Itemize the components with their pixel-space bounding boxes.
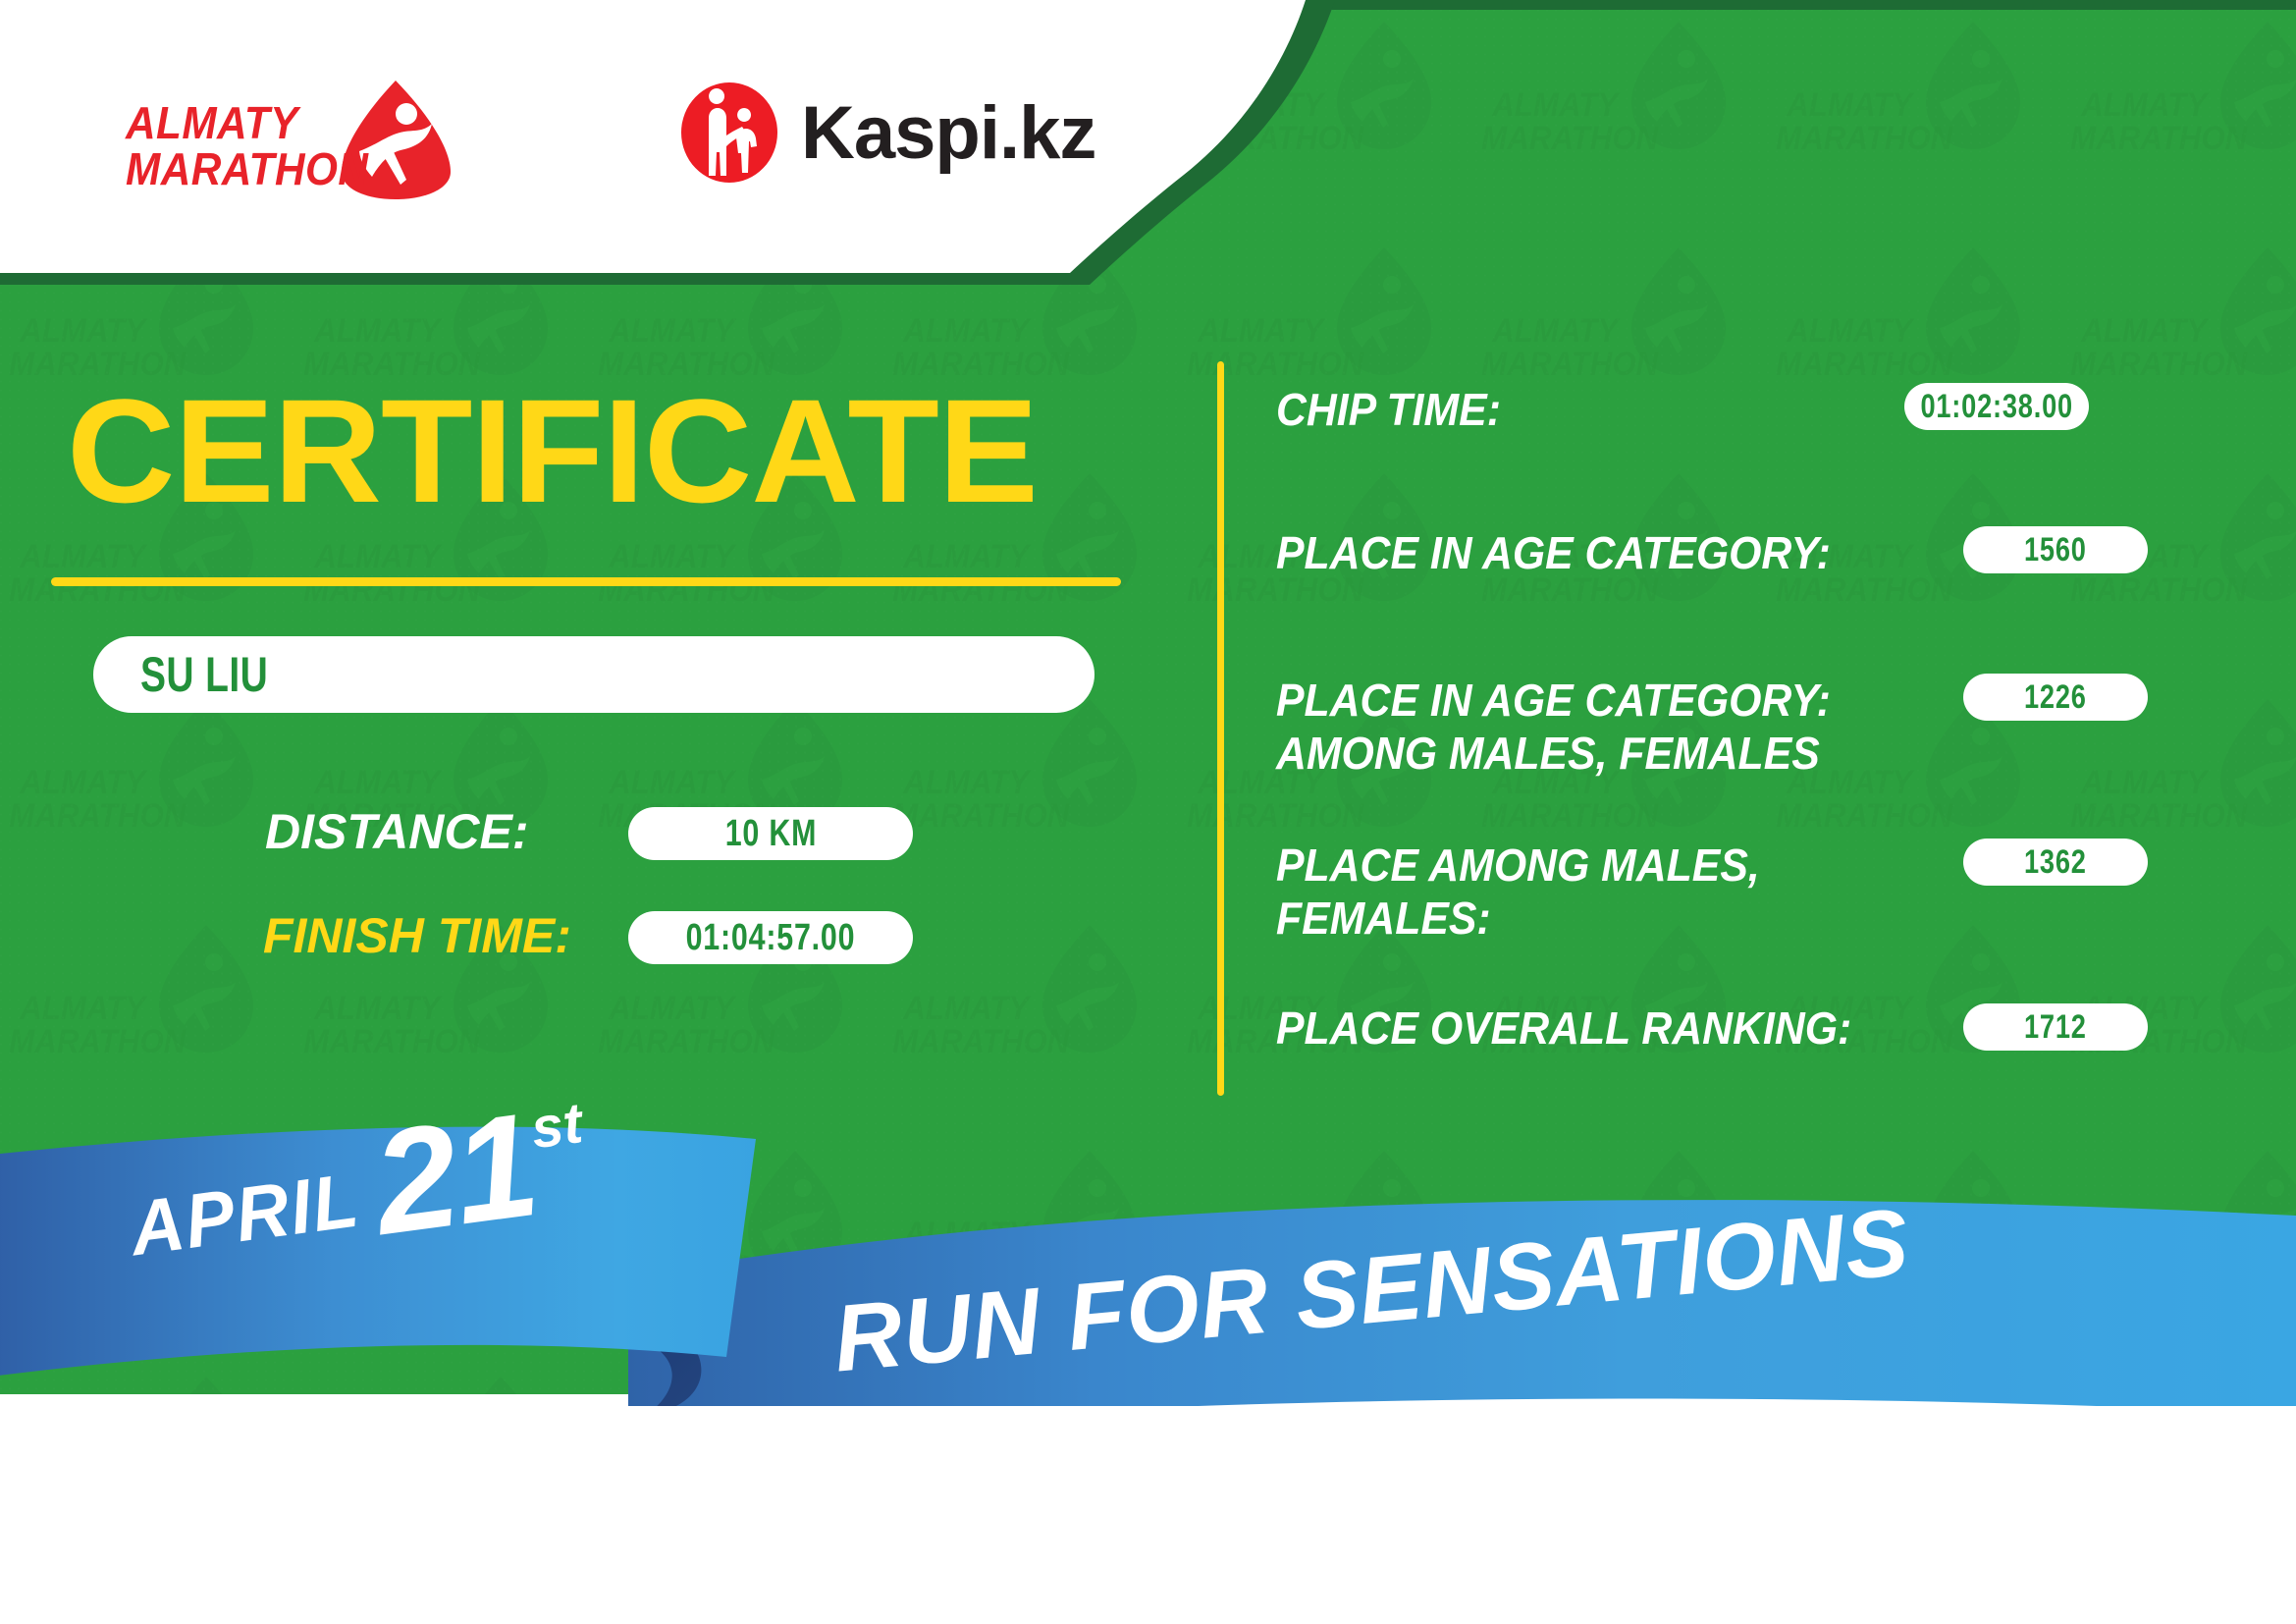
- result-row-age-category-gender: PLACE IN AGE CATEGORY: AMONG MALES, FEMA…: [1276, 674, 2238, 839]
- overall-rank-value: 1712: [2024, 1008, 2087, 1047]
- almaty-line: ALMATY: [126, 100, 368, 146]
- header-logo-group: ALMATY MARATHON Kaspi.kz: [0, 0, 1178, 281]
- left-stats-group: DISTANCE: 10 KM FINISH TIME: 01:04:57.00: [0, 785, 1158, 974]
- overall-rank-value-pill: 1712: [1963, 1003, 2148, 1051]
- age-category-value-pill: 1560: [1963, 526, 2148, 573]
- place-gender-label: PLACE AMONG MALES, FEMALES:: [1276, 839, 1760, 945]
- marathon-line: MARATHON: [126, 146, 368, 192]
- result-row-age-category: PLACE IN AGE CATEGORY: 1560: [1276, 520, 2238, 674]
- almaty-marathon-wordmark: ALMATY MARATHON: [126, 100, 368, 192]
- age-category-value: 1560: [2024, 531, 2087, 569]
- chip-time-value-pill: 01:02:38.00: [1904, 383, 2089, 430]
- result-row-place-gender: PLACE AMONG MALES, FEMALES: 1362: [1276, 839, 2238, 1001]
- stat-row-distance: DISTANCE: 10 KM: [0, 785, 1158, 880]
- age-category-gender-value: 1226: [2024, 678, 2087, 717]
- kaspi-people-icon: [677, 81, 781, 185]
- title-divider: [51, 577, 1121, 586]
- age-category-gender-value-pill: 1226: [1963, 674, 2148, 721]
- overall-rank-label: PLACE OVERALL RANKING:: [1276, 1001, 1851, 1055]
- athlete-name-field: SU LIU: [93, 636, 1095, 713]
- certificate-page: ALMATY MARATHON ALMATY: [0, 0, 2296, 1624]
- place-gender-value-pill: 1362: [1963, 839, 2148, 886]
- kaspi-wordmark: Kaspi.kz: [801, 90, 1095, 176]
- column-divider: [1217, 361, 1224, 1096]
- event-day-suffix: st: [527, 1090, 586, 1162]
- age-category-label: PLACE IN AGE CATEGORY:: [1276, 526, 1831, 579]
- page-title: CERTIFICATE: [67, 377, 1038, 524]
- sponsor-bar: [0, 1406, 2296, 1624]
- athlete-name-value: SU LIU: [140, 646, 268, 703]
- age-category-gender-label: PLACE IN AGE CATEGORY: AMONG MALES, FEMA…: [1276, 674, 1831, 780]
- distance-label: DISTANCE:: [265, 803, 529, 860]
- place-gender-value: 1362: [2024, 843, 2087, 882]
- results-group: CHIP TIME: 01:02:38.00 PLACE IN AGE CATE…: [1276, 373, 2238, 1110]
- distance-value-pill: 10 KM: [628, 807, 913, 860]
- chip-time-value: 01:02:38.00: [1920, 388, 2073, 426]
- finish-time-value: 01:04:57.00: [686, 917, 856, 959]
- distance-value: 10 KM: [724, 813, 817, 855]
- event-day: 21: [367, 1100, 542, 1247]
- almaty-marathon-logo: ALMATY MARATHON: [126, 59, 450, 206]
- finish-time-value-pill: 01:04:57.00: [628, 911, 913, 964]
- stat-row-finish-time: FINISH TIME: 01:04:57.00: [0, 880, 1158, 974]
- kaspi-logo: Kaspi.kz: [677, 79, 1095, 187]
- result-row-chip-time: CHIP TIME: 01:02:38.00: [1276, 373, 2238, 520]
- finish-time-label: FINISH TIME:: [263, 907, 571, 964]
- chip-time-label: CHIP TIME:: [1276, 383, 1501, 436]
